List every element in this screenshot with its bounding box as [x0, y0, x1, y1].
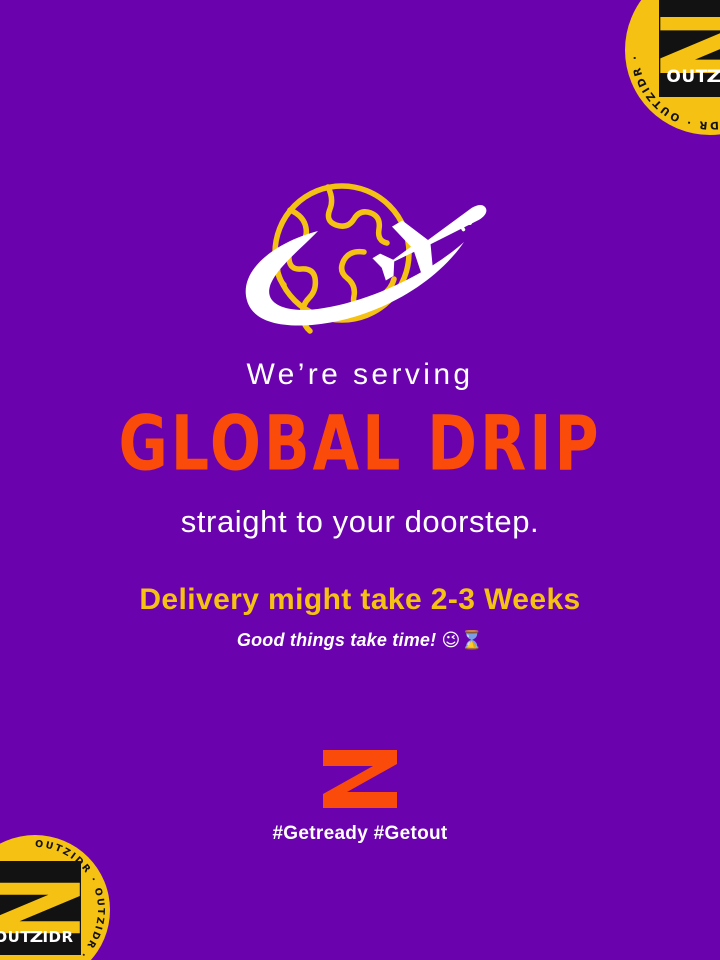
footer-block: #Getready #Getout: [0, 748, 720, 843]
copy-block: We’re serving GLOBAL DRIP straight to yo…: [0, 360, 720, 650]
tagline-text: Good things take time! 😉⌛: [0, 631, 720, 650]
eyebrow-text: We’re serving: [0, 360, 720, 390]
tagline-words: Good things take time!: [237, 630, 436, 650]
seal-wordmark-top-right: OUTZIDR: [663, 69, 720, 86]
poster-canvas: We’re serving GLOBAL DRIP straight to yo…: [0, 0, 720, 960]
headline-text: GLOBAL DRIP: [11, 406, 709, 482]
subhead-text: straight to your doorstep.: [0, 506, 720, 537]
seal-wordmark-right: IDR: [42, 928, 73, 946]
outzidr-seal-top-right: OUTZIDR · OUTZIDR · OUTZIDR · OUTZIDR · …: [625, 0, 720, 135]
seal-core-bottom-left: OUTZIDR: [0, 861, 81, 955]
seal-wordmark-left: OUT: [0, 928, 31, 946]
seal-wordmark-bottom-left: OUTZIDR: [0, 930, 77, 945]
wink-hourglass-emoji: 😉⌛: [442, 630, 484, 651]
seal-wordmark-z: Z: [30, 930, 44, 945]
seal-wordmark-left: OUT: [666, 67, 707, 87]
z-logo-icon: [321, 748, 399, 810]
delivery-note-text: Delivery might take 2-3 Weeks: [0, 585, 720, 615]
globe-plane-illustration: [232, 168, 488, 348]
outzidr-seal-bottom-left: OUTZIDR · OUTZIDR · OUTZIDR · OUTZIDR · …: [0, 835, 110, 960]
seal-wordmark-z: Z: [706, 69, 720, 86]
seal-core-top-right: OUTZIDR: [659, 0, 720, 97]
